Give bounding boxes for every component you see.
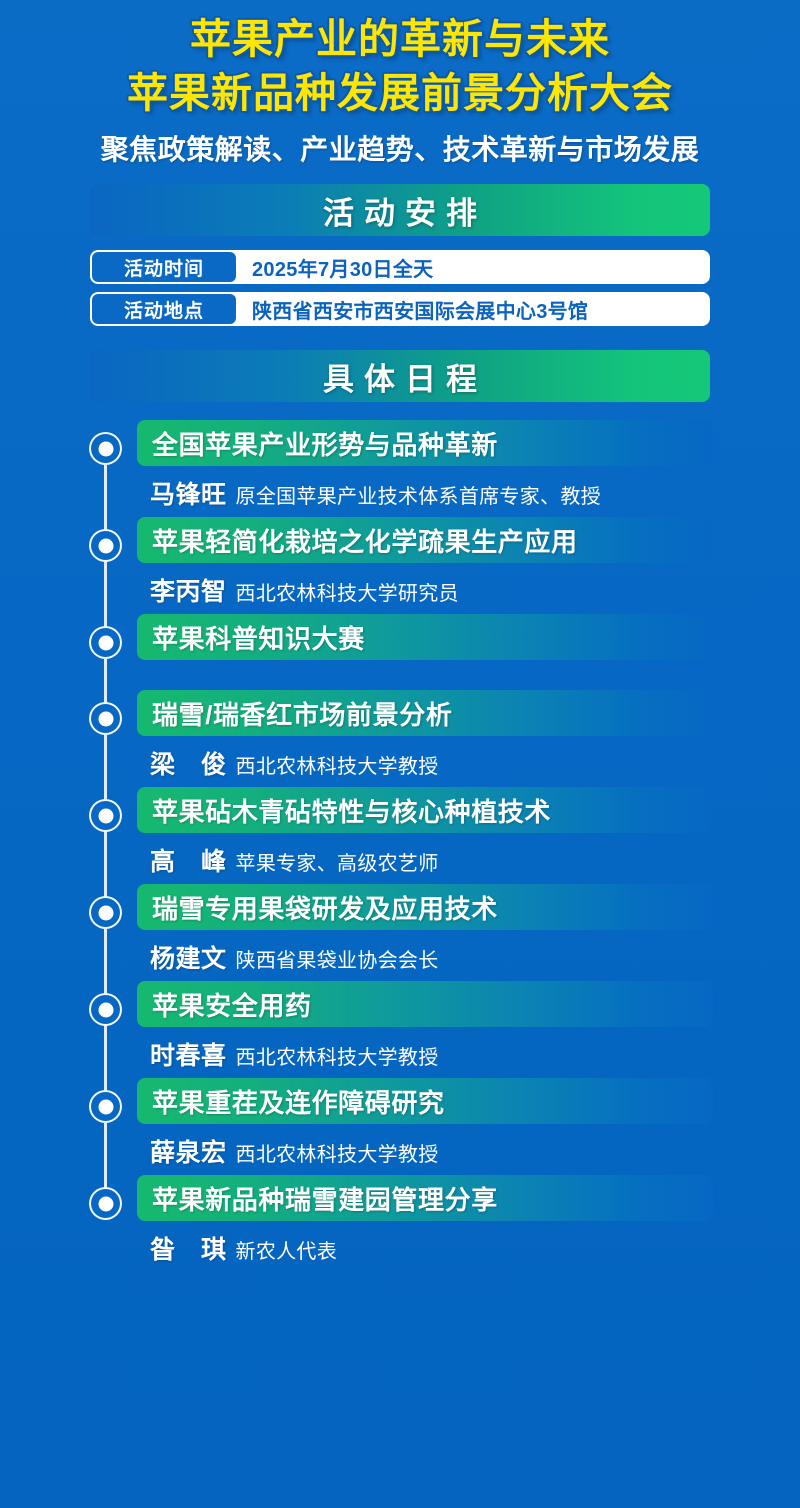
poster-root: 苹果产业的革新与未来 苹果新品种发展前景分析大会 聚焦政策解读、产业趋势、技术革… — [0, 0, 800, 1508]
event-info-row-location: 活动地点 陕西省西安市西安国际会展中心3号馆 — [90, 292, 710, 326]
agenda-item-speaker-name: 薛泉宏 — [150, 1133, 227, 1169]
agenda-item-speaker-affiliation: 西北农林科技大学教授 — [236, 750, 439, 779]
agenda-item[interactable]: 苹果安全用药 时春喜 西北农林科技大学教授 — [0, 981, 800, 1070]
agenda-item-title-bar: 苹果砧木青砧特性与核心种植技术 — [137, 787, 713, 833]
agenda-item-title-bar: 瑞雪专用果袋研发及应用技术 — [137, 884, 713, 930]
agenda-item-speaker-name: 时春喜 — [150, 1036, 227, 1072]
timeline-dot-icon — [89, 702, 122, 735]
section-header-arrangement-label: 活动安排 — [313, 188, 487, 233]
agenda-item-title-bar: 苹果重茬及连作障碍研究 — [137, 1078, 713, 1124]
agenda-item-title: 苹果新品种瑞雪建园管理分享 — [152, 1180, 498, 1217]
timeline-dot-icon — [89, 432, 122, 465]
agenda-item[interactable]: 瑞雪/瑞香红市场前景分析 梁 俊 西北农林科技大学教授 — [0, 690, 800, 779]
event-location-label: 活动地点 — [90, 292, 238, 326]
timeline-dot-icon — [89, 993, 122, 1026]
section-header-agenda: 具体日程 — [90, 350, 710, 402]
agenda-item-title: 瑞雪/瑞香红市场前景分析 — [152, 695, 452, 732]
page-subtitle: 聚焦政策解读、产业趋势、技术革新与市场发展 — [0, 132, 800, 168]
agenda-item-speaker-line: 李丙智 西北农林科技大学研究员 — [137, 572, 800, 606]
timeline-dot-icon — [89, 799, 122, 832]
agenda-item-speaker-affiliation: 西北农林科技大学教授 — [236, 1138, 439, 1167]
agenda-item-speaker-line: 昝 琪 新农人代表 — [137, 1230, 800, 1264]
agenda-item-speaker-affiliation: 苹果专家、高级农艺师 — [236, 847, 439, 876]
agenda-item-title: 苹果科普知识大赛 — [152, 619, 365, 656]
agenda-item-title: 全国苹果产业形势与品种革新 — [152, 425, 498, 462]
event-location-value: 陕西省西安市西安国际会展中心3号馆 — [238, 294, 708, 324]
timeline-dot-icon — [89, 1090, 122, 1123]
agenda-item-title: 苹果砧木青砧特性与核心种植技术 — [152, 792, 551, 829]
timeline-dot-icon — [89, 896, 122, 929]
event-time-value: 2025年7月30日全天 — [238, 252, 708, 282]
agenda-item[interactable]: 全国苹果产业形势与品种革新 马锋旺 原全国苹果产业技术体系首席专家、教授 — [0, 420, 800, 509]
agenda-item-speaker-affiliation: 西北农林科技大学教授 — [236, 1041, 439, 1070]
agenda-item-title-bar: 全国苹果产业形势与品种革新 — [137, 420, 713, 466]
agenda-item-speaker-line: 薛泉宏 西北农林科技大学教授 — [137, 1133, 800, 1167]
agenda-item-title: 苹果安全用药 — [152, 986, 312, 1023]
agenda-item-title-bar: 苹果安全用药 — [137, 981, 713, 1027]
event-info-list: 活动时间 2025年7月30日全天 活动地点 陕西省西安市西安国际会展中心3号馆 — [90, 250, 710, 326]
agenda-item-speaker-affiliation: 西北农林科技大学研究员 — [236, 577, 459, 606]
page-title-line-2: 苹果新品种发展前景分析大会 — [0, 68, 800, 118]
page-title-line-1: 苹果产业的革新与未来 — [0, 14, 800, 64]
agenda-item-title-bar: 苹果科普知识大赛 — [137, 614, 713, 660]
agenda-item-speaker-affiliation: 原全国苹果产业技术体系首席专家、教授 — [236, 480, 601, 509]
agenda-item-speaker-name: 李丙智 — [150, 572, 227, 608]
event-info-row-time: 活动时间 2025年7月30日全天 — [90, 250, 710, 284]
agenda-item-title: 瑞雪专用果袋研发及应用技术 — [152, 889, 498, 926]
agenda-item[interactable]: 苹果砧木青砧特性与核心种植技术 高 峰 苹果专家、高级农艺师 — [0, 787, 800, 876]
agenda-timeline: 全国苹果产业形势与品种革新 马锋旺 原全国苹果产业技术体系首席专家、教授 苹果轻… — [0, 420, 800, 1280]
timeline-dot-icon — [89, 1187, 122, 1220]
agenda-item-speaker-affiliation: 陕西省果袋业协会会长 — [236, 944, 439, 973]
agenda-item[interactable]: 苹果重茬及连作障碍研究 薛泉宏 西北农林科技大学教授 — [0, 1078, 800, 1167]
agenda-item[interactable]: 苹果新品种瑞雪建园管理分享 昝 琪 新农人代表 — [0, 1175, 800, 1264]
agenda-item[interactable]: 苹果轻简化栽培之化学疏果生产应用 李丙智 西北农林科技大学研究员 — [0, 517, 800, 606]
agenda-item-speaker-name: 昝 琪 — [150, 1230, 227, 1266]
agenda-item-speaker-line: 马锋旺 原全国苹果产业技术体系首席专家、教授 — [137, 475, 800, 509]
agenda-item[interactable]: 瑞雪专用果袋研发及应用技术 杨建文 陕西省果袋业协会会长 — [0, 884, 800, 973]
agenda-item-speaker-name: 梁 俊 — [150, 745, 227, 781]
agenda-item-speaker-name: 高 峰 — [150, 842, 227, 878]
agenda-item[interactable]: 苹果科普知识大赛 — [0, 614, 800, 660]
agenda-item-speaker-line: 高 峰 苹果专家、高级农艺师 — [137, 842, 800, 876]
agenda-item-title-bar: 苹果新品种瑞雪建园管理分享 — [137, 1175, 713, 1221]
agenda-item-title: 苹果重茬及连作障碍研究 — [152, 1083, 445, 1120]
agenda-item-speaker-line: 梁 俊 西北农林科技大学教授 — [137, 745, 800, 779]
agenda-item-title-bar: 瑞雪/瑞香红市场前景分析 — [137, 690, 713, 736]
section-header-arrangement: 活动安排 — [90, 184, 710, 236]
poster-header: 苹果产业的革新与未来 苹果新品种发展前景分析大会 聚焦政策解读、产业趋势、技术革… — [0, 0, 800, 168]
section-header-agenda-label: 具体日程 — [313, 354, 487, 399]
event-time-label: 活动时间 — [90, 250, 238, 284]
agenda-item-speaker-line: 时春喜 西北农林科技大学教授 — [137, 1036, 800, 1070]
agenda-item-speaker-affiliation: 新农人代表 — [236, 1235, 338, 1264]
timeline-dot-icon — [89, 529, 122, 562]
agenda-item-title: 苹果轻简化栽培之化学疏果生产应用 — [152, 522, 578, 559]
agenda-item-title-bar: 苹果轻简化栽培之化学疏果生产应用 — [137, 517, 713, 563]
agenda-item-speaker-name: 杨建文 — [150, 939, 227, 975]
agenda-item-speaker-name: 马锋旺 — [150, 475, 227, 511]
agenda-item-speaker-line: 杨建文 陕西省果袋业协会会长 — [137, 939, 800, 973]
timeline-dot-icon — [89, 626, 122, 659]
